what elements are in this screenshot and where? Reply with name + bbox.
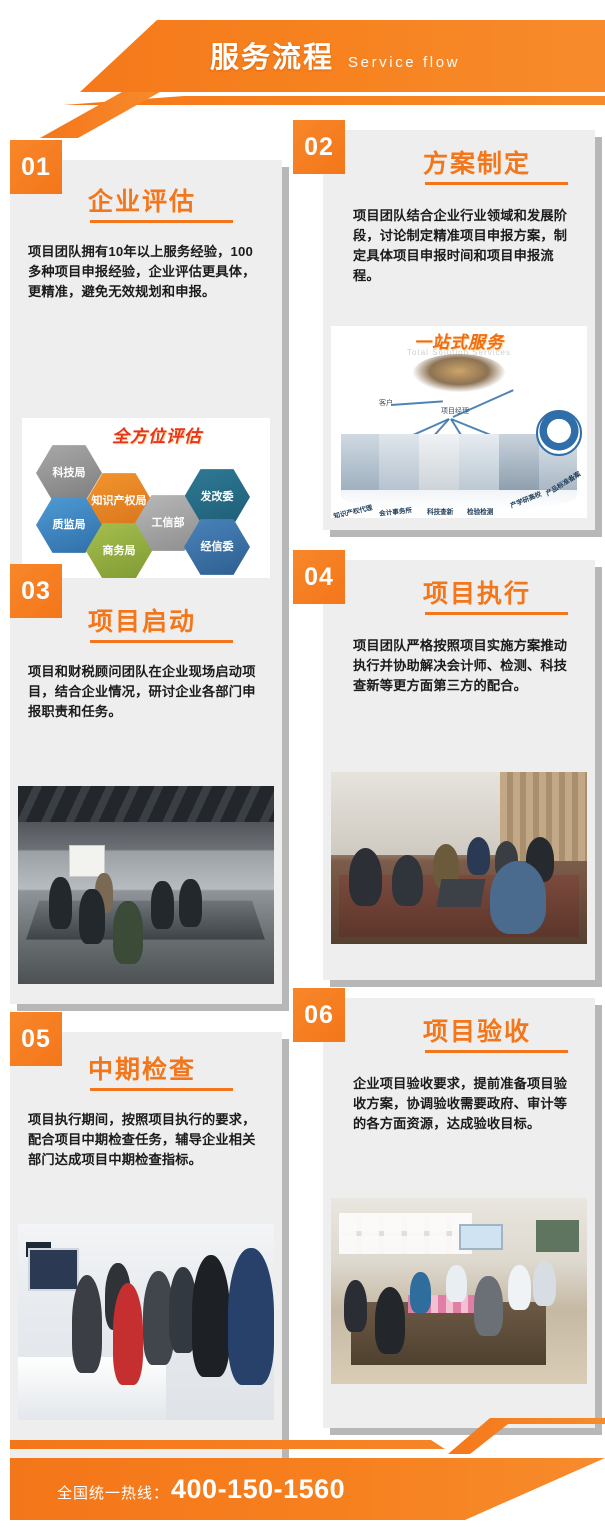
flow-arrow-1 (453, 389, 514, 418)
card-01-number-badge: 01 (10, 140, 62, 194)
header-title-group: 服务流程 Service flow (210, 34, 460, 76)
card-03-body: 项目和财税顾问团队在企业现场启动项目，结合企业情况，研讨企业各部门申报职责和任务… (28, 662, 262, 722)
one-stop-service-diagram: 一站式服务 Total Solution Services 客户 项目经理 (331, 326, 587, 518)
one-stop-hero-photo (413, 354, 505, 392)
card-06[interactable]: 06 项目验收 企业项目验收要求，提前准备项目验收方案，协调验收需要政府、审计等… (323, 998, 595, 1428)
card-01-title: 企业评估 (88, 182, 196, 218)
card-05[interactable]: 05 中期检查 项目执行期间，按照项目执行的要求，配合项目中期检查任务，辅导企业… (10, 1032, 282, 1462)
hotline-number[interactable]: 400-150-1560 (171, 1474, 345, 1505)
one-stop-cell-2 (419, 434, 459, 491)
card-01-title-rule (90, 220, 233, 223)
flow-arrow-0 (391, 400, 443, 406)
card-03-number-badge: 03 (10, 564, 62, 618)
service-flow-poster: 服务流程 Service flow 01 企业评估 项目团队拥有10年以上服务经… (0, 0, 605, 1538)
one-stop-cell-3 (459, 434, 499, 491)
card-03-title-rule (90, 640, 233, 643)
card-06-title: 项目验收 (423, 1012, 531, 1048)
card-02-number-badge: 02 (293, 120, 345, 174)
header-diagonal-wedge (40, 92, 160, 138)
card-05-body: 项目执行期间，按照项目执行的要求，配合项目中期检查任务，辅导企业相关部门达成项目… (28, 1110, 262, 1170)
hotline-label: 全国统一热线： (57, 1482, 169, 1503)
header-accent-stripe (0, 96, 605, 105)
meeting-room-photo (18, 786, 274, 984)
page-header: 服务流程 Service flow (0, 0, 605, 112)
card-06-title-rule (425, 1050, 568, 1053)
card-05-title: 中期检查 (88, 1050, 196, 1086)
card-03-title: 项目启动 (88, 602, 196, 638)
card-03[interactable]: 03 项目启动 项目和财税顾问团队在企业现场启动项目，结合企业情况，研讨企业各部… (10, 584, 282, 1004)
one-stop-bottom-label-3: 检验检测 (467, 506, 493, 516)
card-04-body: 项目团队严格按照项目实施方案推动执行并协助解决会计师、检测、科技查新等更方面第三… (353, 636, 579, 696)
working-session-photo (331, 772, 587, 944)
one-stop-cell-1 (379, 434, 419, 491)
showroom-visit-photo (18, 1224, 274, 1420)
card-02-title: 方案制定 (423, 144, 531, 180)
footer-accent-stripe (10, 1440, 605, 1449)
page-footer: 全国统一热线： 400-150-1560 (0, 1418, 605, 1538)
card-01[interactable]: 01 企业评估 项目团队拥有10年以上服务经验，100多种项目申报经验，企业评估… (10, 160, 282, 592)
one-stop-bottom-label-0: 知识产权代理 (332, 502, 373, 518)
acceptance-meeting-photo (331, 1198, 587, 1384)
card-02[interactable]: 02 方案制定 项目团队结合企业行业领域和发展阶段，讨论制定精准项目申报方案，制… (323, 130, 595, 530)
one-stop-cell-4 (499, 434, 539, 491)
page-subtitle: Service flow (348, 54, 460, 71)
card-06-number-badge: 06 (293, 988, 345, 1042)
card-04-title-rule (425, 612, 568, 615)
card-04-title: 项目执行 (423, 574, 531, 610)
card-01-body: 项目团队拥有10年以上服务经验，100多种项目申报经验，企业评估更具体，更精准，… (28, 242, 262, 302)
one-stop-bottom-label-1: 会计事务所 (379, 504, 413, 517)
hotline-group: 全国统一热线： 400-150-1560 (57, 1474, 345, 1505)
one-stop-bottom-label-2: 科技查新 (427, 506, 453, 516)
card-02-title-rule (425, 182, 568, 185)
card-04[interactable]: 04 项目执行 项目团队严格按照项目实施方案推动执行并协助解决会计师、检测、科技… (323, 560, 595, 980)
card-05-number-badge: 05 (10, 1012, 62, 1066)
footer-diagonal-wedge (430, 1418, 605, 1454)
card-05-title-rule (90, 1088, 233, 1091)
hexagon-chart-title: 全方位评估 (112, 422, 202, 447)
hexagon-evaluation-chart: 全方位评估 科技局 知识产权局 发改委 质监局 工信部 商务局 经信委 (22, 418, 270, 578)
card-06-body: 企业项目验收要求，提前准备项目验收方案，协调验收需要政府、审计等的各方面资源，达… (353, 1074, 579, 1134)
card-04-number-badge: 04 (293, 550, 345, 604)
card-02-body: 项目团队结合企业行业领域和发展阶段，讨论制定精准项目申报方案，制定具体项目申报时… (353, 206, 579, 286)
page-title: 服务流程 (210, 34, 334, 76)
one-stop-cell-0 (341, 434, 379, 491)
